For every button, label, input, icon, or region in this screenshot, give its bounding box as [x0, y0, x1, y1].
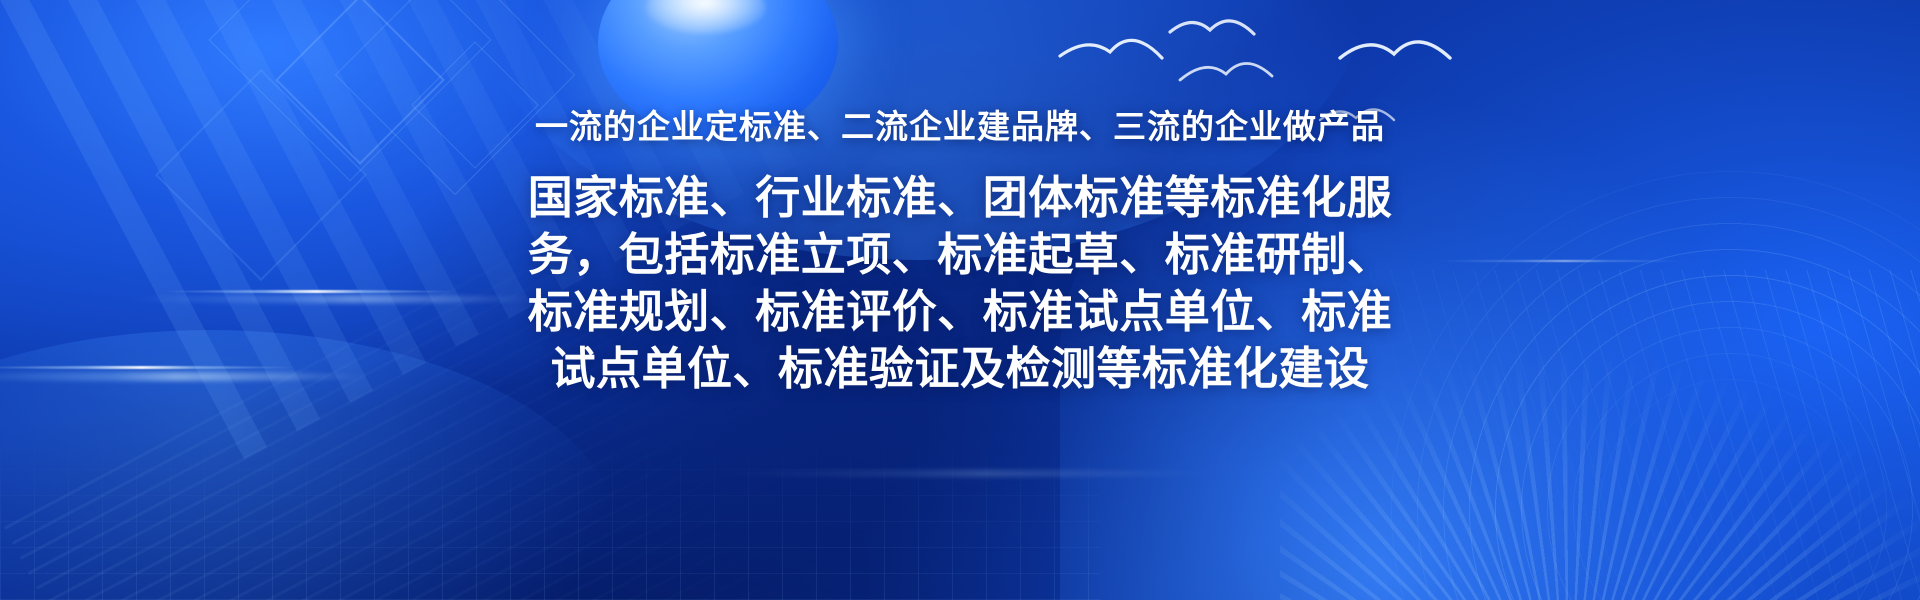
hero-banner: 一流的企业定标准、二流企业建品牌、三流的企业做产品 国家标准、行业标准、团体标准…: [0, 0, 1920, 600]
banner-body-line: 试点单位、标准验证及检测等标准化建设: [440, 340, 1480, 397]
banner-body-line: 务，包括标准立项、标准起草、标准研制、: [440, 226, 1480, 283]
banner-body-line: 标准规划、标准评价、标准试点单位、标准: [440, 283, 1480, 340]
banner-body-line: 国家标准、行业标准、团体标准等标准化服: [440, 169, 1480, 226]
banner-body-text: 国家标准、行业标准、团体标准等标准化服 务，包括标准立项、标准起草、标准研制、 …: [440, 169, 1480, 397]
banner-headline: 一流的企业定标准、二流企业建品牌、三流的企业做产品: [535, 110, 1385, 143]
banner-content: 一流的企业定标准、二流企业建品牌、三流的企业做产品 国家标准、行业标准、团体标准…: [0, 0, 1920, 600]
